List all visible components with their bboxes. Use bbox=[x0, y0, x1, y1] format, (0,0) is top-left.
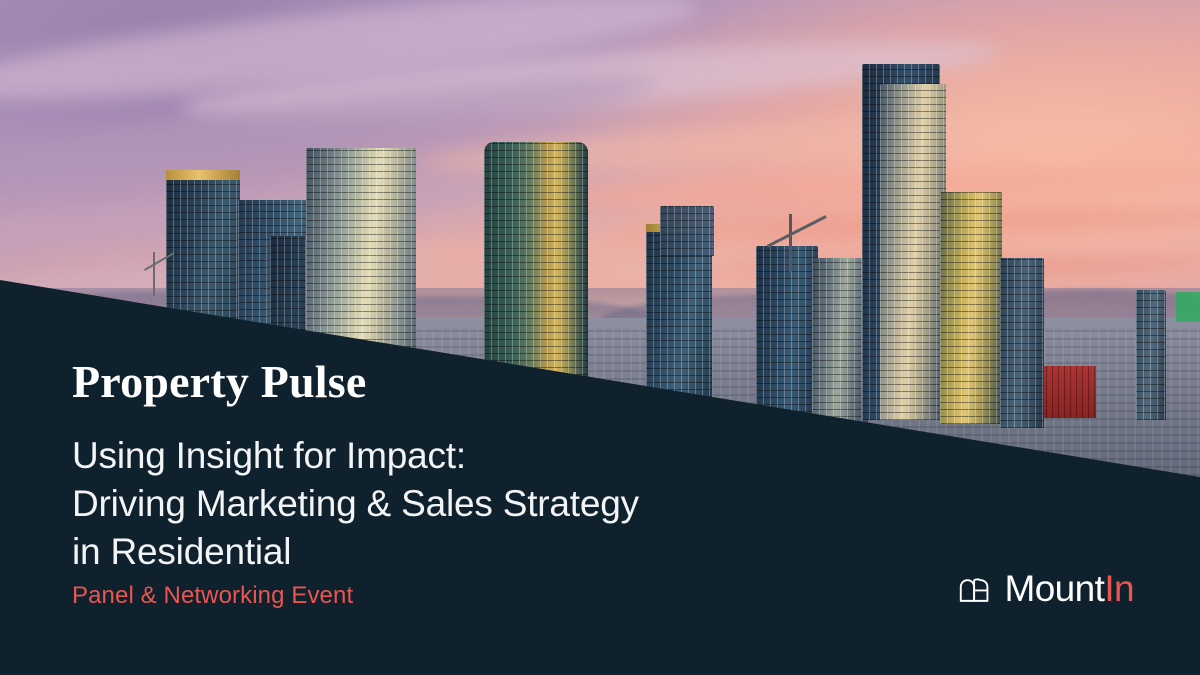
brand-logo[interactable]: MountIn bbox=[957, 570, 1134, 607]
event-subtitle: Using Insight for Impact: Driving Market… bbox=[72, 432, 639, 576]
subtitle-line-2: Driving Marketing & Sales Strategy bbox=[72, 480, 639, 528]
banner-content: Property Pulse Using Insight for Impact:… bbox=[0, 0, 1200, 675]
subtitle-line-3: in Residential bbox=[72, 528, 639, 576]
logo-word-in: In bbox=[1104, 568, 1134, 609]
mountin-monogram-icon bbox=[957, 571, 993, 607]
event-banner: Property Pulse Using Insight for Impact:… bbox=[0, 0, 1200, 675]
subtitle-line-1: Using Insight for Impact: bbox=[72, 432, 639, 480]
logo-word-mount: Mount bbox=[1004, 568, 1104, 609]
event-title: Property Pulse bbox=[72, 358, 367, 406]
event-type-tagline: Panel & Networking Event bbox=[72, 582, 353, 610]
logo-wordmark: MountIn bbox=[1004, 570, 1134, 607]
